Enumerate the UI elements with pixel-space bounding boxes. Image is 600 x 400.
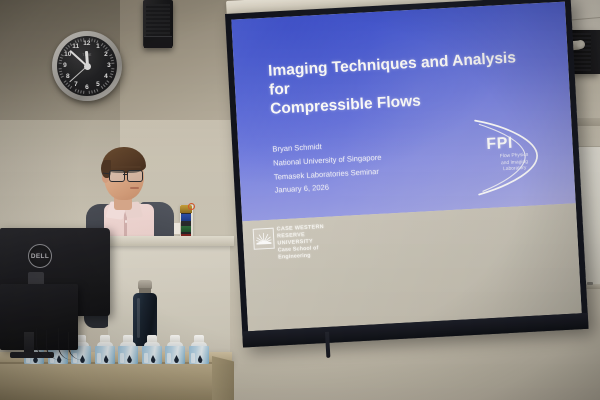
dell-logo: DELL bbox=[28, 244, 52, 268]
clock-tick bbox=[59, 68, 62, 69]
carton-body bbox=[189, 346, 209, 364]
clock-tick bbox=[89, 91, 90, 94]
clock-tick bbox=[110, 57, 113, 59]
carton-body bbox=[165, 346, 185, 364]
clock-tick bbox=[59, 63, 62, 64]
clock-numeral: 4 bbox=[104, 74, 108, 81]
clock-tick bbox=[107, 49, 110, 52]
water-drop-icon bbox=[198, 355, 203, 363]
shirt-button bbox=[125, 220, 128, 223]
cwru-line3: Case School of Engineering bbox=[278, 244, 331, 261]
clock-tick bbox=[94, 90, 96, 93]
water-carton[interactable] bbox=[95, 342, 115, 364]
slide-byline: Bryan Schmidt National University of Sin… bbox=[272, 132, 475, 198]
speaker-grill-icon bbox=[146, 4, 170, 36]
clock-tick bbox=[111, 71, 114, 73]
clock-tick bbox=[111, 60, 114, 62]
fpi-acronym: FPI bbox=[486, 133, 539, 154]
wall-speaker-left bbox=[143, 0, 173, 48]
bottle-highlight bbox=[137, 298, 140, 338]
clock-numeral: 1 bbox=[96, 44, 100, 51]
clock-tick bbox=[78, 90, 80, 93]
clock-tick bbox=[78, 39, 80, 42]
clock-tick bbox=[75, 40, 77, 43]
cwru-wordmark: CASE WESTERN RESERVE UNIVERSITY Case Sch… bbox=[277, 224, 331, 262]
clock-tick bbox=[103, 84, 106, 87]
clock-numeral: 10 bbox=[64, 52, 71, 59]
clock-tick bbox=[70, 86, 73, 89]
clock-tick bbox=[109, 76, 112, 78]
screen-surface: Imaging Techniques and Analysis for Comp… bbox=[231, 2, 581, 332]
carton-stripe bbox=[167, 353, 171, 363]
clock-tick bbox=[111, 68, 114, 69]
water-carton[interactable] bbox=[165, 342, 185, 364]
clock-numeral: 5 bbox=[96, 82, 100, 89]
clock-tick bbox=[111, 63, 114, 64]
safety-pin-icon bbox=[188, 203, 195, 210]
clock-face: TIME 121234567891011 bbox=[57, 36, 117, 96]
wall-clock: TIME 121234567891011 bbox=[52, 31, 122, 101]
counter-front bbox=[0, 362, 222, 400]
clock-tick bbox=[59, 71, 62, 73]
carton-body bbox=[142, 346, 162, 364]
clock-tick bbox=[61, 54, 64, 56]
clock-numeral: 8 bbox=[66, 74, 70, 81]
clock-tick bbox=[80, 39, 82, 42]
lecture-room-photo: TIME 121234567891011 Imaging Techniques … bbox=[0, 0, 600, 400]
clock-numeral: 3 bbox=[107, 63, 111, 70]
ceiling-mount-knob bbox=[576, 40, 585, 49]
water-drop-icon bbox=[104, 355, 109, 363]
water-carton[interactable] bbox=[142, 342, 162, 364]
clock-tick bbox=[80, 90, 82, 93]
lens-left bbox=[109, 170, 125, 182]
projection-screen: Imaging Techniques and Analysis for Comp… bbox=[225, 0, 589, 348]
lens-right bbox=[127, 170, 143, 182]
water-drop-icon bbox=[174, 355, 179, 363]
water-carton[interactable] bbox=[189, 342, 209, 364]
water-drop-icon bbox=[127, 355, 132, 363]
counter-side-panel bbox=[212, 356, 234, 400]
clock-numeral: 2 bbox=[104, 52, 108, 59]
podium-top bbox=[104, 236, 234, 246]
whiteboard-marker[interactable] bbox=[587, 282, 593, 285]
clock-tick bbox=[105, 82, 108, 85]
carton-stripe bbox=[144, 353, 148, 363]
clock-tick bbox=[60, 57, 63, 59]
cwru-lockup: CASE WESTERN RESERVE UNIVERSITY Case Sch… bbox=[253, 225, 330, 251]
cwru-footer-band: CASE WESTERN RESERVE UNIVERSITY Case Sch… bbox=[242, 203, 581, 331]
cable-bundle bbox=[34, 328, 92, 362]
clock-tick bbox=[107, 80, 110, 83]
clock-hub bbox=[84, 63, 91, 70]
clock-tick bbox=[96, 89, 98, 92]
fpi-logo: FPI Flow Physics and Imaging Laboratory bbox=[465, 111, 551, 199]
carton-stripe bbox=[191, 353, 195, 363]
fpi-subtitle: Flow Physics and Imaging Laboratory bbox=[487, 152, 542, 175]
clock-numeral: 7 bbox=[74, 82, 78, 89]
glasses-bridge bbox=[123, 174, 127, 175]
clock-numeral: 9 bbox=[63, 63, 67, 70]
water-carton[interactable] bbox=[118, 342, 138, 364]
clock-numeral: 11 bbox=[72, 44, 79, 51]
carton-body bbox=[95, 346, 115, 364]
clock-tick bbox=[61, 76, 64, 78]
water-drop-icon bbox=[151, 355, 156, 363]
clock-numeral: 12 bbox=[83, 41, 90, 48]
carton-stripe bbox=[97, 353, 101, 363]
speaker-lip bbox=[144, 36, 172, 48]
sunburst-icon bbox=[253, 228, 275, 250]
eyeglasses-icon bbox=[109, 170, 145, 181]
presentation-slide: Imaging Techniques and Analysis for Comp… bbox=[231, 2, 575, 222]
clock-tick bbox=[101, 86, 104, 89]
carton-body bbox=[118, 346, 138, 364]
eyebrow bbox=[111, 166, 141, 168]
clock-tick bbox=[110, 73, 113, 75]
clock-tick bbox=[59, 60, 62, 62]
carton-stripe bbox=[120, 353, 124, 363]
clock-tick bbox=[91, 90, 93, 93]
